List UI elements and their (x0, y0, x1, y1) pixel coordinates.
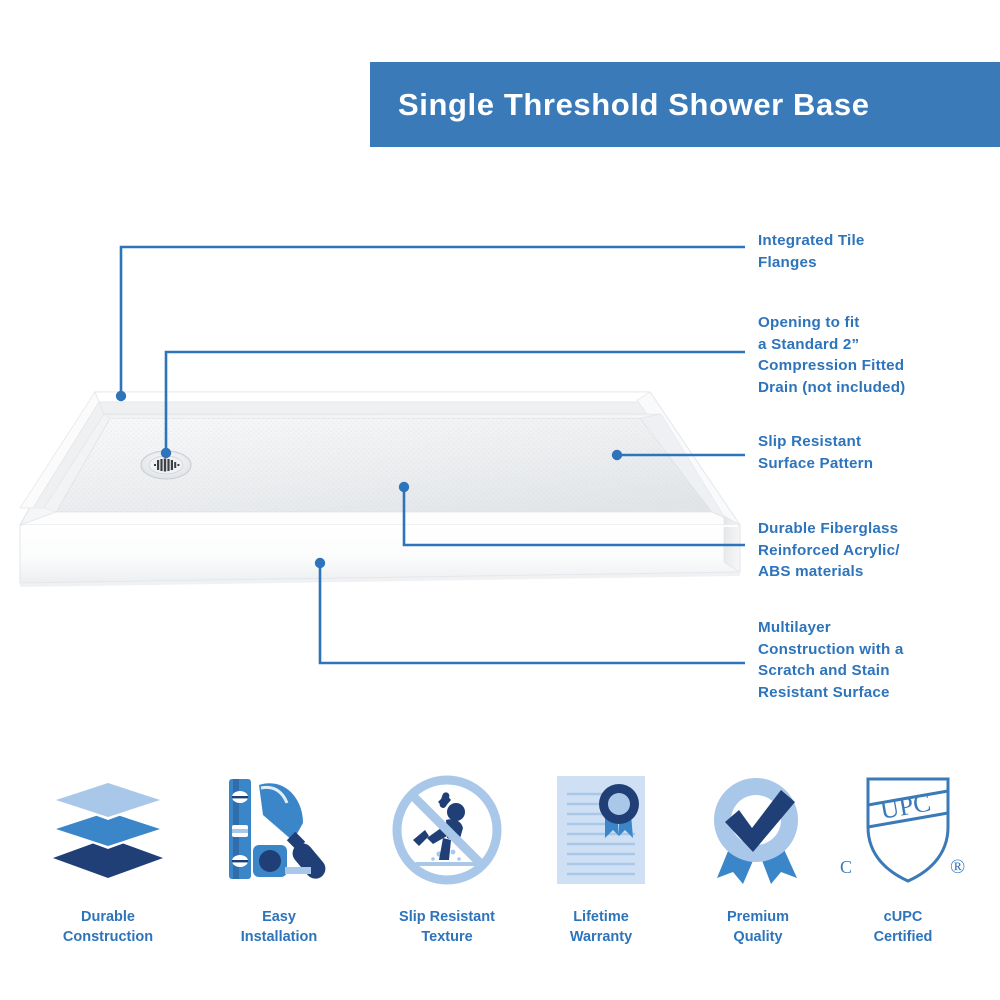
feature-strip: Durable Construction (0, 770, 1000, 1000)
callout-slip-resistant-surface-pattern: Slip Resistant Surface Pattern (758, 431, 873, 474)
upc-registered-mark: ® (950, 856, 965, 878)
stacked-layers-icon (25, 770, 191, 890)
feature-label: Durable Construction (25, 908, 191, 947)
drain-grate (141, 451, 191, 479)
callout-durable-materials: Durable Fiberglass Reinforced Acrylic/ A… (758, 518, 900, 583)
callout-integrated-tile-flanges: Integrated Tile Flanges (758, 230, 865, 273)
feature-lifetime-warranty: Lifetime Warranty (518, 770, 684, 947)
callout-multilayer-construction: Multilayer Construction with a Scratch a… (758, 617, 904, 703)
callout-drain-opening: Opening to fit a Standard 2” Compression… (758, 312, 905, 398)
award-check-icon (675, 770, 841, 890)
certificate-icon (518, 770, 684, 890)
upc-letters: UPC (878, 788, 933, 825)
feature-cupc-certified: UPC C ® cUPC Certified (820, 770, 986, 947)
title-banner: Single Threshold Shower Base (370, 62, 1000, 147)
feature-label: Lifetime Warranty (518, 908, 684, 947)
upc-left-mark: C (840, 857, 852, 877)
feature-durable-construction: Durable Construction (25, 770, 191, 947)
feature-easy-installation: Easy Installation (196, 770, 362, 947)
infographic-page: Single Threshold Shower Base (0, 0, 1000, 1000)
feature-label: Premium Quality (675, 908, 841, 947)
feature-label: cUPC Certified (820, 908, 986, 947)
product-illustration (0, 330, 760, 650)
upc-shield-icon: UPC C ® (820, 770, 986, 890)
page-title: Single Threshold Shower Base (398, 87, 870, 123)
base-body (20, 392, 740, 587)
tools-level-trowel-icon (196, 770, 362, 890)
feature-label: Easy Installation (196, 908, 362, 947)
feature-premium-quality: Premium Quality (675, 770, 841, 947)
feature-label: Slip Resistant Texture (364, 908, 530, 947)
feature-slip-resistant-texture: Slip Resistant Texture (364, 770, 530, 947)
no-slip-icon (364, 770, 530, 890)
